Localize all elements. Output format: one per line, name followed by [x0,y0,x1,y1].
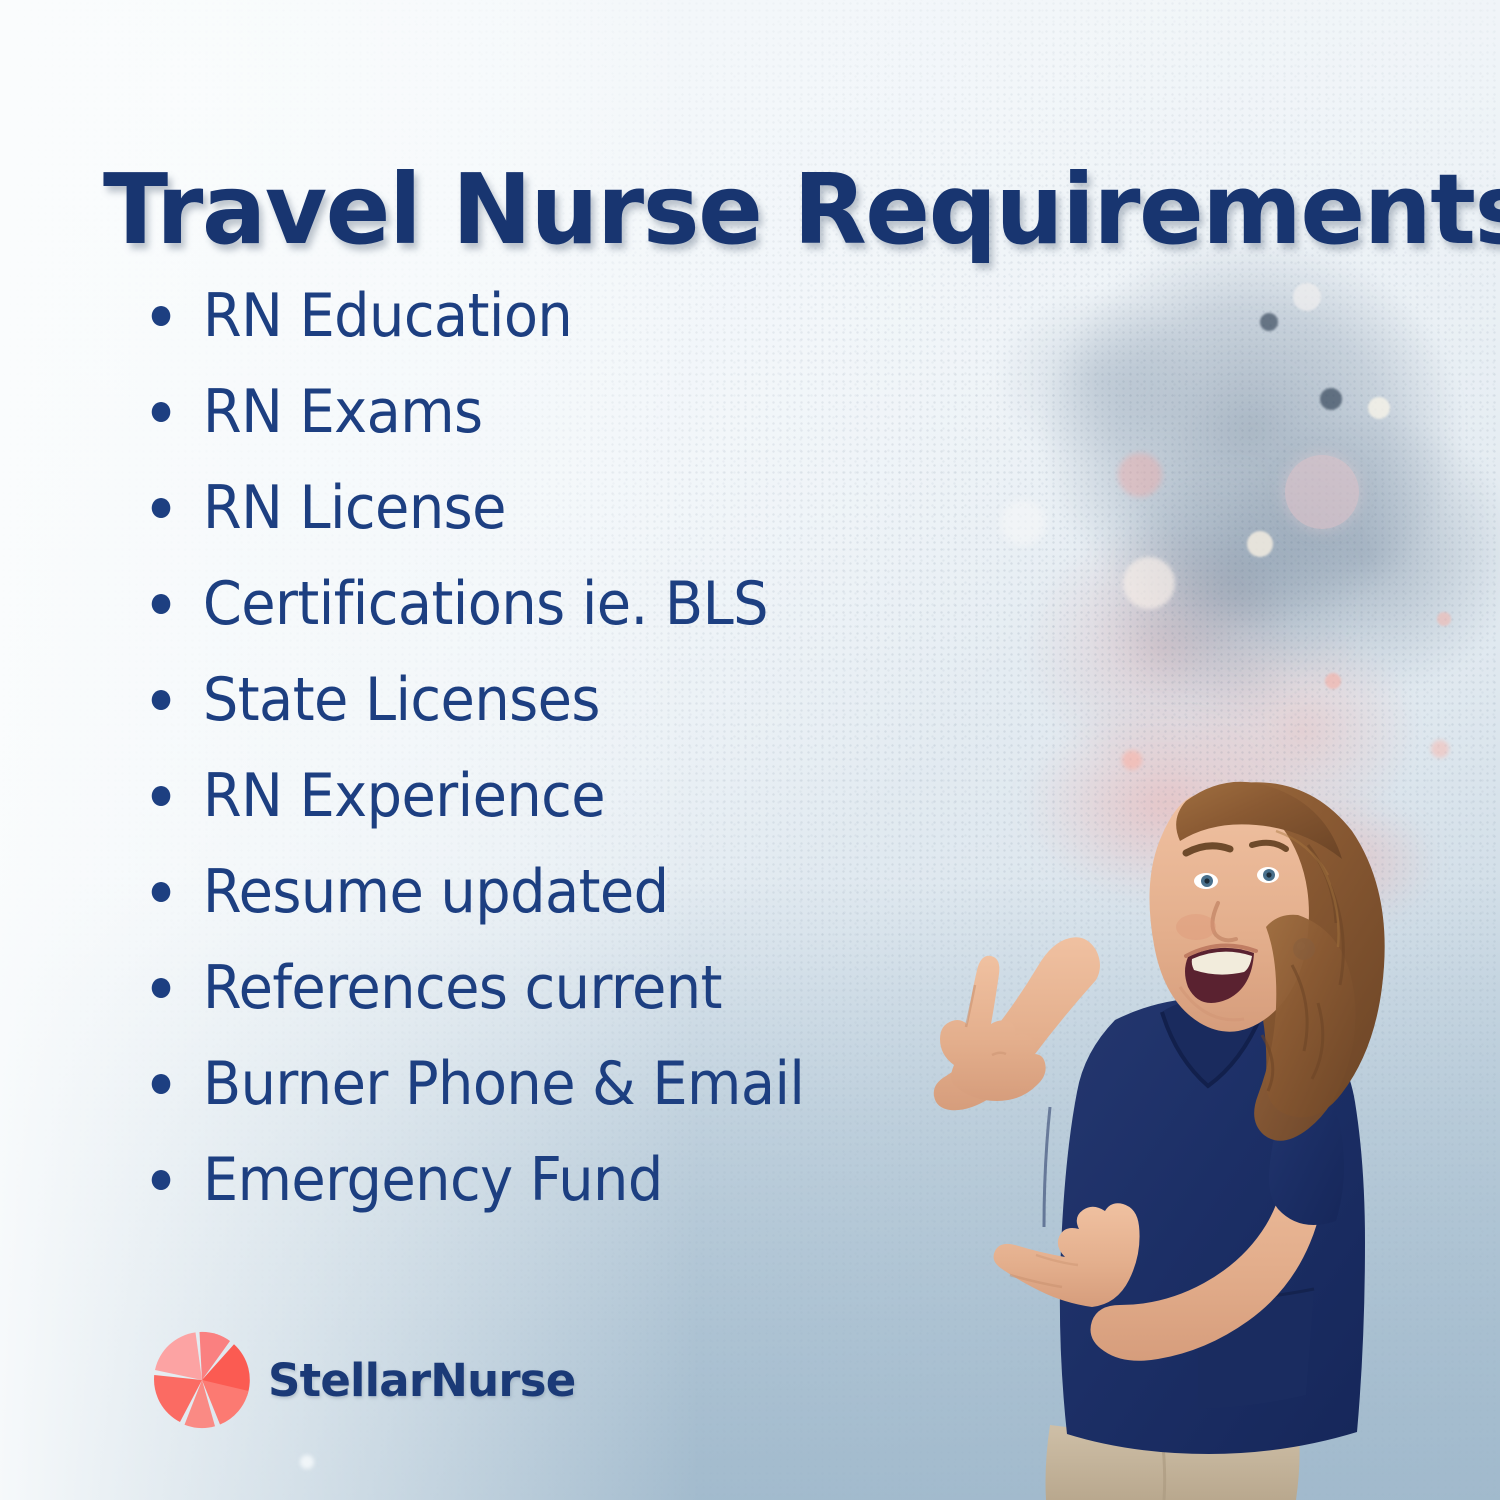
bullet-dot-icon [152,498,171,518]
list-item-label: RN Experience [203,761,605,831]
bokeh-dot [1320,388,1342,410]
list-item: RN License [148,460,804,556]
bokeh-dot [1247,531,1273,557]
bullet-dot-icon [152,306,171,326]
bullet-dot-icon [152,402,171,422]
list-item-label: Burner Phone & Email [203,1049,804,1119]
bullet-dot-icon [152,786,171,806]
bokeh-dot [1437,612,1451,626]
bullet-dot-icon [152,690,171,710]
requirements-list: RN Education RN Exams RN License Certifi… [148,268,854,1228]
bokeh-dot [1285,455,1359,529]
list-item: RN Experience [148,748,804,844]
list-item-label: Certifications ie. BLS [203,569,768,639]
list-item-label: RN Education [203,281,572,351]
bullet-dot-icon [152,1074,171,1094]
list-item: Burner Phone & Email [148,1036,804,1132]
list-item-label: RN Exams [203,377,483,447]
stellar-pie-star-icon [152,1330,252,1430]
list-item: State Licenses [148,652,804,748]
list-item-label: Resume updated [203,857,669,927]
bokeh-dot [1000,500,1046,546]
bokeh-dot [1368,397,1390,419]
bokeh-dot [300,1455,314,1469]
bokeh-dot [1293,283,1321,311]
list-item-label: RN License [203,473,506,543]
bokeh-dot [1118,453,1162,497]
list-item-label: References current [203,953,722,1023]
bullet-dot-icon [152,882,171,902]
brand-logo[interactable]: StellarNurse [152,1330,575,1430]
page-title: Travel Nurse Requirements [103,161,1500,260]
poster-canvas: Travel Nurse Requirements RN Education R… [0,0,1500,1500]
list-item: Certifications ie. BLS [148,556,804,652]
list-item: RN Exams [148,364,804,460]
list-item: RN Education [148,268,804,364]
list-item: References current [148,940,804,1036]
bokeh-dot [1123,557,1175,609]
brand-wordmark: StellarNurse [268,1354,575,1407]
list-item-label: Emergency Fund [203,1145,663,1215]
bullet-dot-icon [152,1170,171,1190]
nurse-photo [900,735,1500,1500]
list-item-label: State Licenses [203,665,600,735]
bokeh-dot [1260,313,1278,331]
bullet-dot-icon [152,594,171,614]
bokeh-dot [1325,673,1341,689]
list-item: Emergency Fund [148,1132,804,1228]
list-item: Resume updated [148,844,804,940]
bullet-dot-icon [152,978,171,998]
